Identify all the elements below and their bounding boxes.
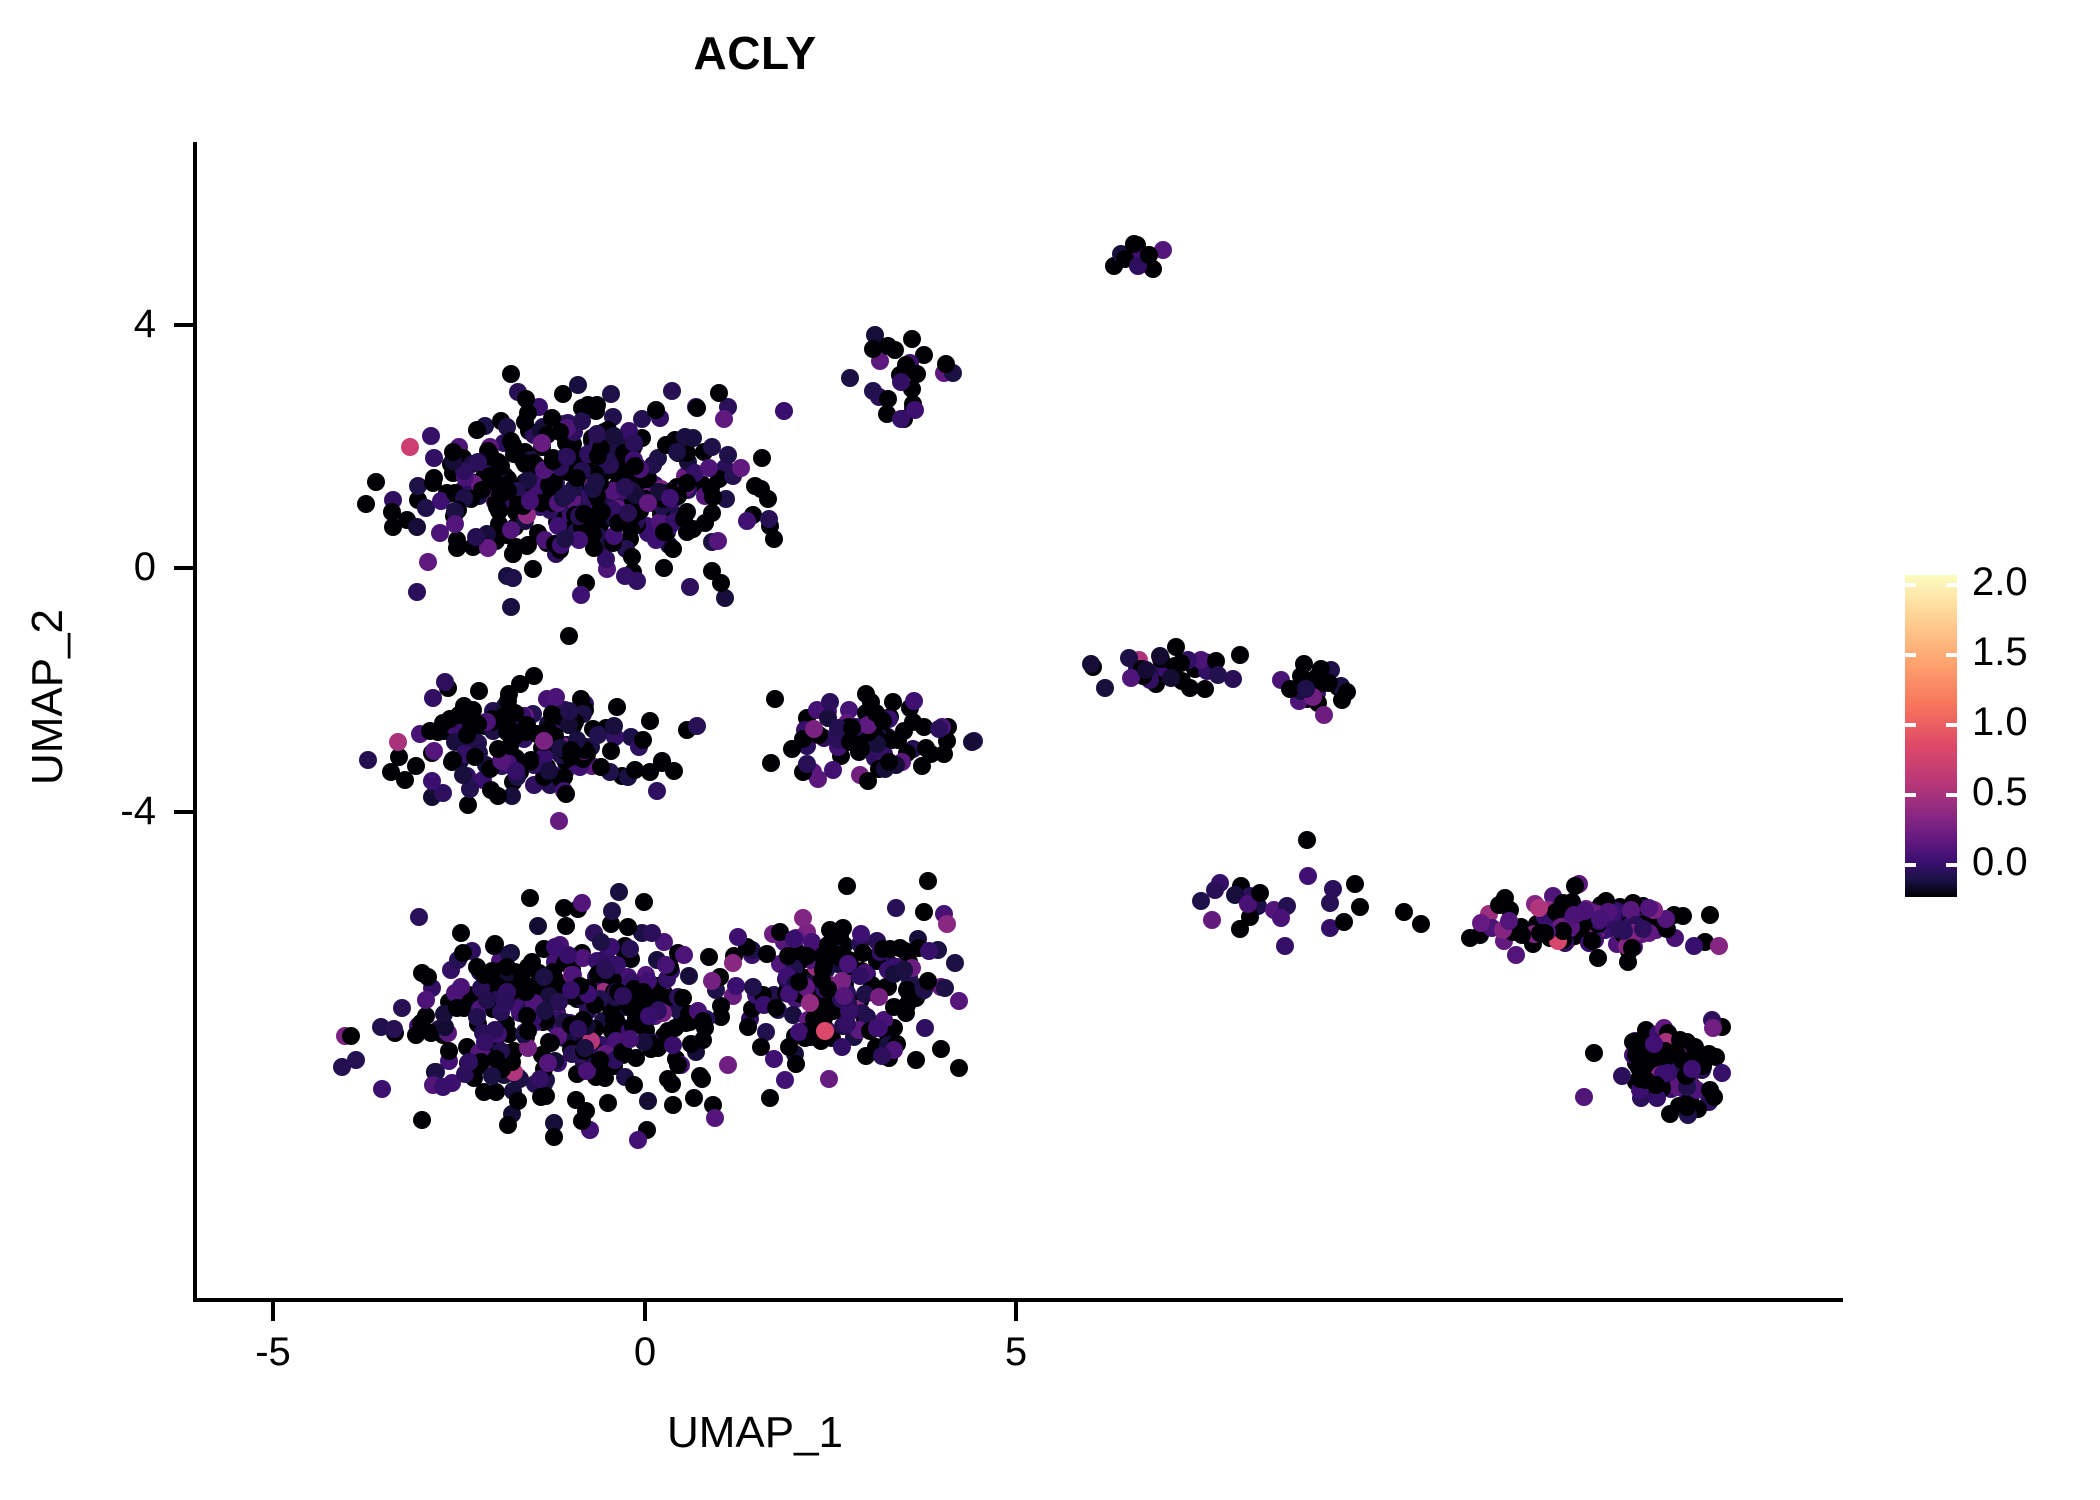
x-axis-title: UMAP_1 <box>195 1408 1315 1458</box>
scatter-point <box>761 1089 779 1107</box>
scatter-point <box>629 1131 647 1149</box>
colorbar-legend: 2.0 1.5 1.0 0.5 0.0 <box>1900 570 2090 910</box>
scatter-point <box>1507 946 1525 964</box>
scatter-point <box>907 1051 925 1069</box>
colorbar-tick-0-left <box>1905 863 1916 867</box>
scatter-point <box>821 693 839 711</box>
scatter-point <box>753 449 771 467</box>
y-tick-mark-4 <box>174 323 193 327</box>
scatter-point <box>525 667 543 685</box>
scatter-point <box>562 981 580 999</box>
scatter-point <box>813 971 831 989</box>
scatter-point <box>873 1047 891 1065</box>
scatter-point <box>1710 937 1728 955</box>
scatter-point <box>589 726 607 744</box>
scatter-point <box>417 991 435 1009</box>
scatter-point <box>1272 909 1290 927</box>
scatter-point <box>661 489 679 507</box>
scatter-point <box>569 376 587 394</box>
scatter-point <box>916 1019 934 1037</box>
scatter-point <box>1678 1098 1696 1116</box>
scatter-point <box>874 940 892 958</box>
x-tick-label-5: 5 <box>946 1330 1086 1375</box>
scatter-point <box>509 1092 527 1110</box>
scatter-point <box>470 682 488 700</box>
scatter-point <box>669 1056 687 1074</box>
scatter-point <box>709 532 727 550</box>
scatter-point <box>852 925 870 943</box>
scatter-point <box>517 454 535 472</box>
scatter-point <box>950 992 968 1010</box>
scatter-point <box>425 449 443 467</box>
scatter-point <box>572 586 590 604</box>
scatter-point <box>410 908 428 926</box>
scatter-point <box>675 946 693 964</box>
scatter-point <box>1615 922 1633 940</box>
scatter-point <box>1276 937 1294 955</box>
scatter-point <box>824 761 842 779</box>
colorbar-gradient <box>1905 575 1957 897</box>
scatter-point <box>794 909 812 927</box>
colorbar-tick-1-right <box>1946 723 1957 727</box>
scatter-point <box>459 796 477 814</box>
scatter-point <box>887 899 905 917</box>
y-tick-label-4: 4 <box>36 302 156 347</box>
scatter-point <box>1613 1067 1631 1085</box>
scatter-point <box>937 355 955 373</box>
scatter-point <box>655 559 673 577</box>
scatter-point <box>424 689 442 707</box>
page-title: ACLY <box>195 26 1315 80</box>
scatter-point <box>542 1034 560 1052</box>
scatter-point <box>1575 1088 1593 1106</box>
scatter-point <box>605 427 623 445</box>
scatter-point <box>560 627 578 645</box>
scatter-point <box>833 1038 851 1056</box>
scatter-point <box>729 928 747 946</box>
scatter-point <box>489 787 507 805</box>
scatter-point <box>425 742 443 760</box>
scatter-point <box>635 893 653 911</box>
scatter-point <box>1647 1076 1665 1094</box>
scatter-point <box>724 954 742 972</box>
scatter-point <box>688 399 706 417</box>
scatter-point <box>700 459 718 477</box>
scatter-point <box>1315 706 1333 724</box>
scatter-point <box>640 1007 658 1025</box>
scatter-point <box>1082 655 1100 673</box>
scatter-point <box>551 423 569 441</box>
scatter-point <box>555 899 573 917</box>
scatter-point <box>1137 661 1155 679</box>
scatter-point <box>785 930 803 948</box>
scatter-point <box>408 583 426 601</box>
scatter-point <box>475 966 493 984</box>
scatter-point <box>738 512 756 530</box>
scatter-point <box>559 946 577 964</box>
scatter-point <box>401 438 419 456</box>
scatter-point <box>469 453 487 471</box>
scatter-point <box>843 719 861 737</box>
scatter-point <box>700 948 718 966</box>
scatter-point <box>1395 903 1413 921</box>
scatter-point <box>419 553 437 571</box>
scatter-point <box>1496 889 1514 907</box>
scatter-point <box>500 685 518 703</box>
scatter-point <box>739 1018 757 1036</box>
scatter-point <box>767 999 785 1017</box>
scatter-point <box>694 1031 712 1049</box>
scatter-point <box>647 401 665 419</box>
scatter-point <box>625 434 643 452</box>
scatter-point <box>851 967 869 985</box>
scatter-point <box>787 1055 805 1073</box>
scatter-point <box>452 924 470 942</box>
colorbar-tick-2-left <box>1905 583 1916 587</box>
scatter-point <box>342 1027 360 1045</box>
scatter-point <box>648 782 666 800</box>
colorbar-tick-15-left <box>1905 653 1916 657</box>
scatter-point <box>643 924 661 942</box>
scatter-point <box>664 1096 682 1114</box>
scatter-point <box>867 704 885 722</box>
x-tick-label-0: 0 <box>575 1330 715 1375</box>
colorbar-tick-0-right <box>1946 863 1957 867</box>
scatter-point <box>421 722 439 740</box>
scatter-point <box>938 915 956 933</box>
scatter-point <box>1661 1105 1679 1123</box>
scatter-point <box>854 944 872 962</box>
scatter-point <box>1536 924 1554 942</box>
y-tick-mark-0 <box>174 566 193 570</box>
scatter-point <box>422 427 440 445</box>
scatter-point <box>946 954 964 972</box>
scatter-point <box>568 469 586 487</box>
scatter-point <box>1231 646 1249 664</box>
scatter-point <box>820 1070 838 1088</box>
scatter-point <box>468 421 486 439</box>
scatter-point <box>838 1015 856 1033</box>
scatter-point <box>760 510 778 528</box>
scatter-point <box>1335 913 1353 931</box>
scatter-point <box>621 940 639 958</box>
scatter-point <box>519 404 537 422</box>
scatter-point <box>608 698 626 716</box>
scatter-point <box>557 917 575 935</box>
scatter-point <box>634 731 652 749</box>
scatter-plot-panel <box>195 142 1843 1298</box>
scatter-point <box>558 486 576 504</box>
scatter-point <box>1461 929 1479 947</box>
scatter-point <box>674 989 692 1007</box>
scatter-point <box>664 540 682 558</box>
scatter-point <box>558 448 576 466</box>
scatter-point <box>1312 660 1330 678</box>
colorbar-tick-05-right <box>1946 793 1957 797</box>
scatter-point <box>1589 949 1607 967</box>
scatter-point <box>573 894 591 912</box>
scatter-point <box>680 967 698 985</box>
scatter-point <box>663 382 681 400</box>
scatter-point <box>1346 875 1364 893</box>
scatter-point <box>536 1002 554 1020</box>
scatter-point <box>1297 680 1315 698</box>
x-tick-label-neg5: -5 <box>203 1330 343 1375</box>
scatter-point <box>610 883 628 901</box>
scatter-point <box>1585 1044 1603 1062</box>
scatter-point <box>684 520 702 538</box>
scatter-point <box>560 702 578 720</box>
legend-label-2: 2.0 <box>1972 560 2092 605</box>
scatter-point <box>798 755 816 773</box>
scatter-point <box>545 1128 563 1146</box>
scatter-point <box>1566 877 1584 895</box>
scatter-point <box>727 977 745 995</box>
scatter-point <box>357 495 375 513</box>
scatter-point <box>408 518 426 536</box>
scatter-point <box>905 692 923 710</box>
scatter-point <box>744 978 762 996</box>
legend-label-05: 0.5 <box>1972 770 2092 815</box>
scatter-point <box>448 539 466 557</box>
scatter-point <box>444 751 462 769</box>
scatter-point <box>766 690 784 708</box>
scatter-point <box>434 1078 452 1096</box>
scatter-point <box>524 560 542 578</box>
scatter-point <box>490 502 508 520</box>
scatter-point <box>557 785 575 803</box>
scatter-point <box>573 412 591 430</box>
scatter-point <box>641 763 659 781</box>
feature-plot-figure: ACLY 4 0 -4 -5 0 5 UMAP_1 UMAP_2 2.0 1.5… <box>0 0 2100 1500</box>
scatter-point <box>591 1051 609 1069</box>
scatter-point <box>625 1076 643 1094</box>
scatter-point <box>903 330 921 348</box>
scatter-point <box>619 918 637 936</box>
scatter-point <box>517 983 535 1001</box>
x-tick-mark-5 <box>1014 1302 1018 1321</box>
scatter-point <box>664 1036 682 1054</box>
scatter-point <box>469 715 487 733</box>
scatter-point <box>1623 939 1641 957</box>
scatter-point <box>775 402 793 420</box>
scatter-point <box>450 706 468 724</box>
scatter-point <box>1338 683 1356 701</box>
scatter-point <box>666 1019 684 1037</box>
scatter-point <box>908 365 926 383</box>
scatter-point <box>1705 1088 1723 1106</box>
scatter-point <box>1162 669 1180 687</box>
scatter-point <box>425 469 443 487</box>
scatter-point <box>1209 666 1227 684</box>
scatter-point <box>919 872 937 890</box>
scatter-point <box>752 1038 770 1056</box>
scatter-point <box>502 365 520 383</box>
scatter-point <box>762 754 780 772</box>
scatter-point <box>413 1111 431 1129</box>
scatter-point <box>373 1080 391 1098</box>
legend-label-0: 0.0 <box>1972 840 2092 885</box>
scatter-point <box>436 673 454 691</box>
scatter-point <box>602 742 620 760</box>
scatter-point <box>1412 915 1430 933</box>
scatter-point <box>710 384 728 402</box>
scatter-point <box>497 992 515 1010</box>
x-axis-line <box>193 1298 1843 1302</box>
scatter-point <box>619 504 637 522</box>
scatter-point <box>841 369 859 387</box>
scatter-point <box>550 812 568 830</box>
scatter-point <box>504 569 522 587</box>
scatter-point <box>569 1020 587 1038</box>
scatter-point <box>521 492 539 510</box>
scatter-point <box>616 567 634 585</box>
legend-label-1: 1.0 <box>1972 700 2092 745</box>
scatter-point <box>879 390 897 408</box>
scatter-point <box>883 731 901 749</box>
scatter-point <box>593 503 611 521</box>
scatter-point <box>540 762 558 780</box>
scatter-point <box>476 1033 494 1051</box>
scatter-point <box>932 1040 950 1058</box>
scatter-point <box>521 889 539 907</box>
scatter-point <box>801 994 819 1012</box>
scatter-point <box>834 919 852 937</box>
scatter-point <box>513 966 531 984</box>
scatter-point <box>870 1019 888 1037</box>
scatter-point <box>460 1053 478 1071</box>
scatter-point <box>616 478 634 496</box>
colorbar-tick-1-left <box>1905 723 1916 727</box>
scatter-point <box>816 1022 834 1040</box>
scatter-point <box>533 434 551 452</box>
scatter-point <box>599 1094 617 1112</box>
scatter-point <box>663 1075 681 1093</box>
scatter-point <box>367 473 385 491</box>
y-axis-title: UMAP_2 <box>23 417 73 977</box>
colorbar-tick-15-right <box>1946 653 1957 657</box>
scatter-point <box>884 693 902 711</box>
scatter-point <box>466 748 484 766</box>
scatter-point <box>535 732 553 750</box>
scatter-point <box>1530 899 1548 917</box>
scatter-point <box>556 530 574 548</box>
scatter-point <box>776 1071 794 1089</box>
scatter-point <box>359 751 377 769</box>
scatter-point <box>419 968 437 986</box>
scatter-point <box>920 942 938 960</box>
scatter-point <box>779 947 797 965</box>
scatter-point <box>758 945 776 963</box>
scatter-point <box>790 973 808 991</box>
scatter-point <box>489 740 507 758</box>
scatter-point <box>706 1109 724 1127</box>
scatter-point <box>685 1089 703 1107</box>
scatter-point <box>393 999 411 1017</box>
scatter-point <box>641 712 659 730</box>
scatter-point <box>1351 898 1369 916</box>
scatter-point <box>502 521 520 539</box>
scatter-point <box>864 340 882 358</box>
scatter-point <box>384 518 402 536</box>
colorbar-tick-2-right <box>1946 583 1957 587</box>
scatter-point <box>805 720 823 738</box>
scatter-point <box>440 1042 458 1060</box>
scatter-point <box>623 548 641 566</box>
scatter-point <box>1298 831 1316 849</box>
scatter-point <box>919 972 937 990</box>
scatter-point <box>906 401 924 419</box>
scatter-point <box>603 902 621 920</box>
scatter-point <box>715 410 733 428</box>
scatter-point <box>467 528 485 546</box>
scatter-point <box>487 1050 505 1068</box>
scatter-point <box>347 1051 365 1069</box>
scatter-point <box>454 766 472 784</box>
scatter-point <box>898 996 916 1014</box>
scatter-point <box>1645 1035 1663 1053</box>
scatter-point <box>639 1092 657 1110</box>
scatter-point <box>389 733 407 751</box>
scatter-point <box>383 503 401 521</box>
scatter-point <box>1192 892 1210 910</box>
scatter-point <box>529 917 547 935</box>
scatter-point <box>499 1116 517 1134</box>
scatter-point <box>950 1059 968 1077</box>
scatter-point <box>1701 906 1719 924</box>
scatter-point <box>655 523 673 541</box>
scatter-point <box>575 505 593 523</box>
x-tick-mark-neg5 <box>271 1302 275 1321</box>
scatter-point <box>614 987 632 1005</box>
scatter-points-layer <box>195 142 1843 1298</box>
scatter-point <box>446 515 464 533</box>
scatter-point <box>444 443 462 461</box>
scatter-point <box>1251 884 1269 902</box>
scatter-point <box>519 1022 537 1040</box>
scatter-point <box>759 490 777 508</box>
scatter-point <box>487 1083 505 1101</box>
scatter-point <box>532 1088 550 1106</box>
scatter-point <box>407 1026 425 1044</box>
scatter-point <box>502 598 520 616</box>
scatter-point <box>596 960 614 978</box>
scatter-point <box>838 877 856 895</box>
scatter-point <box>665 762 683 780</box>
scatter-point <box>681 578 699 596</box>
scatter-point <box>915 903 933 921</box>
legend-label-15: 1.5 <box>1972 630 2092 675</box>
scatter-point <box>1196 680 1214 698</box>
scatter-point <box>1685 937 1703 955</box>
scatter-point <box>694 1012 712 1030</box>
colorbar-tick-05-left <box>1905 793 1916 797</box>
scatter-point <box>819 936 837 954</box>
y-tick-mark-neg4 <box>174 810 193 814</box>
scatter-point <box>1299 867 1317 885</box>
scatter-point <box>702 479 720 497</box>
scatter-point <box>407 757 425 775</box>
scatter-point <box>1203 911 1221 929</box>
scatter-point <box>535 968 553 986</box>
scatter-point <box>676 428 694 446</box>
scatter-point <box>1096 679 1114 697</box>
scatter-point <box>719 446 737 464</box>
scatter-point <box>688 717 706 735</box>
x-tick-mark-0 <box>643 1302 647 1321</box>
scatter-point <box>1324 880 1342 898</box>
scatter-point <box>719 1056 737 1074</box>
